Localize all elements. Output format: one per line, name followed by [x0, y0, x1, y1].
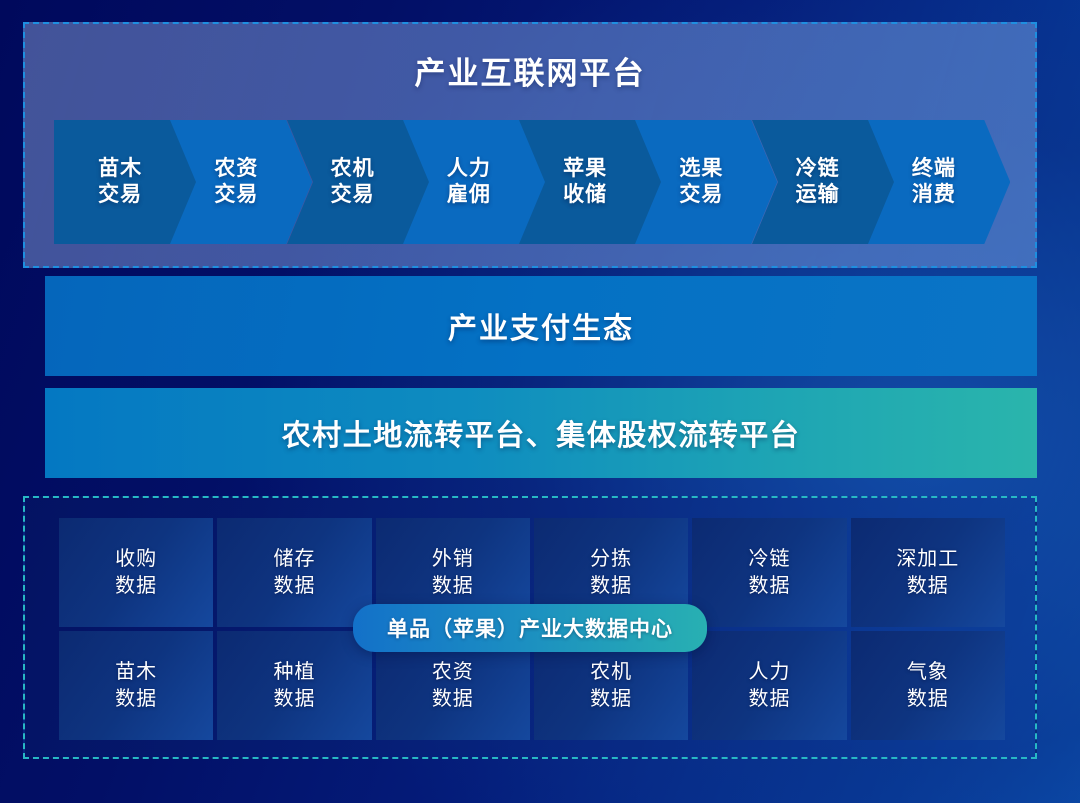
chevron-label-line1: 冷链 — [796, 156, 840, 182]
data-card-label-line1: 深加工 — [896, 546, 959, 572]
data-card[interactable]: 人力数据 — [692, 631, 846, 740]
chevron-label-line2: 交易 — [331, 182, 375, 208]
data-card[interactable]: 储存数据 — [217, 518, 371, 627]
chevron-label: 农资交易 — [214, 156, 268, 208]
chevron-label-line1: 终端 — [912, 156, 956, 182]
chevron-label-line1: 农机 — [331, 156, 375, 182]
chevron-label-line1: 人力 — [447, 156, 491, 182]
chevron-label-line2: 运输 — [796, 182, 840, 208]
data-card-label-line1: 农机 — [590, 659, 632, 685]
data-card-label-line2: 数据 — [907, 686, 949, 712]
chevron-label-line1: 选果 — [679, 156, 723, 182]
data-card-label-line1: 种植 — [273, 659, 315, 685]
data-card-label: 冷链数据 — [748, 546, 790, 599]
chevron-label: 苹果收储 — [563, 156, 617, 208]
data-card-label-line2: 数据 — [432, 573, 474, 599]
data-card-label-line1: 外销 — [432, 546, 474, 572]
data-card-label-line1: 气象 — [907, 659, 949, 685]
page-title: 产业互联网平台 — [25, 48, 1035, 93]
land-transfer-platform-label: 农村土地流转平台、集体股权流转平台 — [282, 412, 801, 454]
land-transfer-platform-bar: 农村土地流转平台、集体股权流转平台 — [45, 388, 1037, 478]
chevron-label: 终端消费 — [912, 156, 966, 208]
data-card-label: 储存数据 — [273, 546, 315, 599]
data-card[interactable]: 冷链数据 — [692, 518, 846, 627]
data-card-label-line2: 数据 — [432, 686, 474, 712]
data-card[interactable]: 苗木数据 — [59, 631, 213, 740]
data-card-label-line2: 数据 — [748, 686, 790, 712]
chevron-label-line1: 农资 — [214, 156, 258, 182]
chevron-label-line2: 交易 — [98, 182, 142, 208]
data-card-label: 农资数据 — [432, 659, 474, 712]
data-card-label-line1: 农资 — [432, 659, 474, 685]
data-card-label-line1: 分拣 — [590, 546, 632, 572]
data-card-label: 苗木数据 — [115, 659, 157, 712]
data-card-label: 收购数据 — [115, 546, 157, 599]
data-card-label-line1: 人力 — [748, 659, 790, 685]
data-card-label-line2: 数据 — [273, 573, 315, 599]
data-card-label: 农机数据 — [590, 659, 632, 712]
value-chain-chevron-row: 苗木交易农资交易农机交易人力雇佣苹果收储选果交易冷链运输终端消费 — [54, 120, 1010, 244]
data-card-label: 人力数据 — [748, 659, 790, 712]
data-card-label-line2: 数据 — [115, 573, 157, 599]
data-card-label: 外销数据 — [432, 546, 474, 599]
chevron-step-8[interactable]: 终端消费 — [868, 120, 1010, 244]
diagram-canvas: 产业互联网平台 苗木交易农资交易农机交易人力雇佣苹果收储选果交易冷链运输终端消费… — [0, 0, 1080, 803]
chevron-label-line2: 交易 — [214, 182, 258, 208]
industrial-internet-platform-panel: 产业互联网平台 苗木交易农资交易农机交易人力雇佣苹果收储选果交易冷链运输终端消费 — [23, 22, 1037, 268]
chevron-label: 苗木交易 — [98, 156, 152, 208]
data-card-label-line2: 数据 — [115, 686, 157, 712]
data-card-label-line1: 收购 — [115, 546, 157, 572]
data-card-label: 种植数据 — [273, 659, 315, 712]
chevron-label: 选果交易 — [679, 156, 733, 208]
chevron-label-line1: 苹果 — [563, 156, 607, 182]
data-card-label-line2: 数据 — [590, 686, 632, 712]
data-card-label: 气象数据 — [907, 659, 949, 712]
chevron-label-line1: 苗木 — [98, 156, 142, 182]
data-card-label-line2: 数据 — [896, 573, 959, 599]
data-card-label: 分拣数据 — [590, 546, 632, 599]
data-card[interactable]: 种植数据 — [217, 631, 371, 740]
big-data-center-badge: 单品（苹果）产业大数据中心 — [353, 604, 707, 652]
data-card-label-line2: 数据 — [273, 686, 315, 712]
data-card[interactable]: 气象数据 — [851, 631, 1005, 740]
payment-ecology-bar: 产业支付生态 — [45, 276, 1037, 376]
data-card-label-line1: 苗木 — [115, 659, 157, 685]
data-card-label-line2: 数据 — [748, 573, 790, 599]
chevron-label-line2: 交易 — [679, 182, 723, 208]
chevron-label: 人力雇佣 — [447, 156, 501, 208]
chevron-label-line2: 收储 — [563, 182, 607, 208]
chevron-label-line2: 雇佣 — [447, 182, 491, 208]
data-card[interactable]: 深加工数据 — [851, 518, 1005, 627]
data-card-label-line1: 储存 — [273, 546, 315, 572]
payment-ecology-label: 产业支付生态 — [448, 305, 634, 347]
big-data-center-panel: 收购数据储存数据外销数据分拣数据冷链数据深加工数据苗木数据种植数据农资数据农机数… — [23, 496, 1037, 759]
data-card-label-line2: 数据 — [590, 573, 632, 599]
data-card-label-line1: 冷链 — [748, 546, 790, 572]
chevron-label-line2: 消费 — [912, 182, 956, 208]
chevron-label: 冷链运输 — [796, 156, 850, 208]
data-card-label: 深加工数据 — [896, 546, 959, 599]
data-card[interactable]: 收购数据 — [59, 518, 213, 627]
chevron-label: 农机交易 — [331, 156, 385, 208]
